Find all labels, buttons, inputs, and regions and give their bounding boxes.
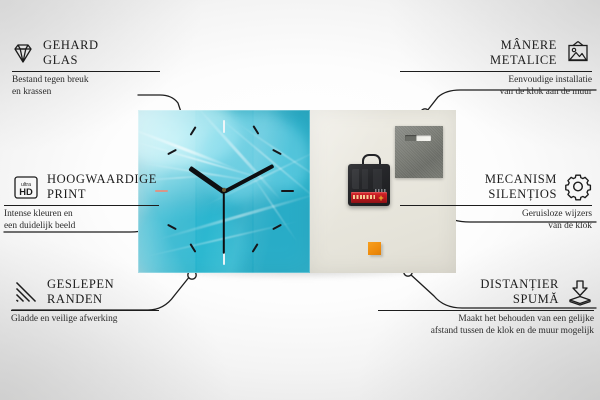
feature-high-quality-print: ultra HD HOOGWAARDIGE PRINT Intense kleu… — [12, 172, 192, 232]
feature-silent-mechanism: MECANISM SILENȚIOS Geruisloze wijzers va… — [392, 172, 592, 232]
feature-silent-mechanism-subtitle-line2: van de klok — [392, 221, 592, 233]
ultra-hd-icon: ultra HD — [12, 174, 40, 200]
movement-housing-detail — [352, 169, 386, 189]
feature-silent-mechanism-rule — [400, 205, 592, 206]
picture-frame-icon — [564, 40, 592, 65]
feature-tempered-glass-subtitle-line1: Bestand tegen breuk — [12, 75, 180, 87]
feature-metal-handles-head: MÂNERE METALICE — [392, 38, 592, 67]
feature-tempered-glass-rule — [12, 71, 160, 72]
beveled-edges-icon — [14, 280, 40, 304]
feature-tempered-glass-head: GEHARD GLAS — [10, 38, 180, 67]
metal-hanger-plate — [395, 126, 443, 178]
feature-tempered-glass-title: GEHARD GLAS — [43, 38, 99, 67]
feature-silent-mechanism-subtitle-line1: Geruisloze wijzers — [392, 209, 592, 221]
battery-plus-marking: + — [377, 194, 385, 202]
feature-foam-spacer-head: DISTANȚIER SPUMĂ — [370, 277, 594, 306]
infographic-canvas: + GEHARD GLAS Bestand tegen breuk en kra… — [0, 0, 600, 400]
feature-foam-spacer-subtitle-line2: afstand tussen de klok en de muur mogeli… — [370, 326, 594, 338]
diamond-icon — [10, 41, 36, 65]
aa-battery: + — [351, 192, 387, 203]
feature-high-quality-print-subtitle-line2: een duidelijk beeld — [4, 221, 192, 233]
feature-foam-spacer-subtitle-line1: Maakt het behouden van een gelijke — [370, 314, 594, 326]
feature-metal-handles: MÂNERE METALICE Eenvoudige installatie v… — [392, 38, 592, 98]
feature-metal-handles-rule — [400, 71, 592, 72]
feature-metal-handles-subtitle-line2: van de klok aan de muur — [392, 87, 592, 99]
hanger-slot — [405, 135, 431, 141]
feature-silent-mechanism-head: MECANISM SILENȚIOS — [392, 172, 592, 201]
feature-ground-edges-subtitle-line1: Gladde en veilige afwerking — [11, 314, 204, 326]
gear-icon — [564, 173, 592, 200]
feature-foam-spacer: DISTANȚIER SPUMĂ Maakt het behouden van … — [370, 277, 594, 337]
foam-spacer-square — [368, 242, 381, 255]
feature-ground-edges-title: GESLEPEN RANDEN — [47, 277, 114, 306]
quartz-movement-box: + — [348, 164, 390, 206]
feature-high-quality-print-head: ultra HD HOOGWAARDIGE PRINT — [12, 172, 192, 201]
feature-ground-edges: GESLEPEN RANDEN Gladde en veilige afwerk… — [14, 277, 204, 326]
feature-metal-handles-title: MÂNERE METALICE — [490, 38, 557, 67]
feature-ground-edges-rule — [11, 310, 159, 311]
battery-label-text — [353, 195, 375, 199]
down-arrow-pad-icon — [566, 279, 594, 305]
feature-ground-edges-head: GESLEPEN RANDEN — [14, 277, 204, 306]
feature-high-quality-print-rule — [4, 205, 159, 206]
feature-high-quality-print-title: HOOGWAARDIGE PRINT — [47, 172, 157, 201]
feature-foam-spacer-rule — [378, 310, 594, 311]
svg-text:HD: HD — [19, 186, 33, 197]
feature-metal-handles-subtitle-line1: Eenvoudige installatie — [392, 75, 592, 87]
feature-high-quality-print-subtitle-line1: Intense kleuren en — [4, 209, 192, 221]
feature-tempered-glass: GEHARD GLAS Bestand tegen breuk en krass… — [10, 38, 180, 98]
feature-foam-spacer-title: DISTANȚIER SPUMĂ — [480, 277, 559, 306]
feature-silent-mechanism-title: MECANISM SILENȚIOS — [485, 172, 557, 201]
feature-tempered-glass-subtitle-line2: en krassen — [12, 87, 180, 99]
hanger-texture — [395, 126, 443, 178]
